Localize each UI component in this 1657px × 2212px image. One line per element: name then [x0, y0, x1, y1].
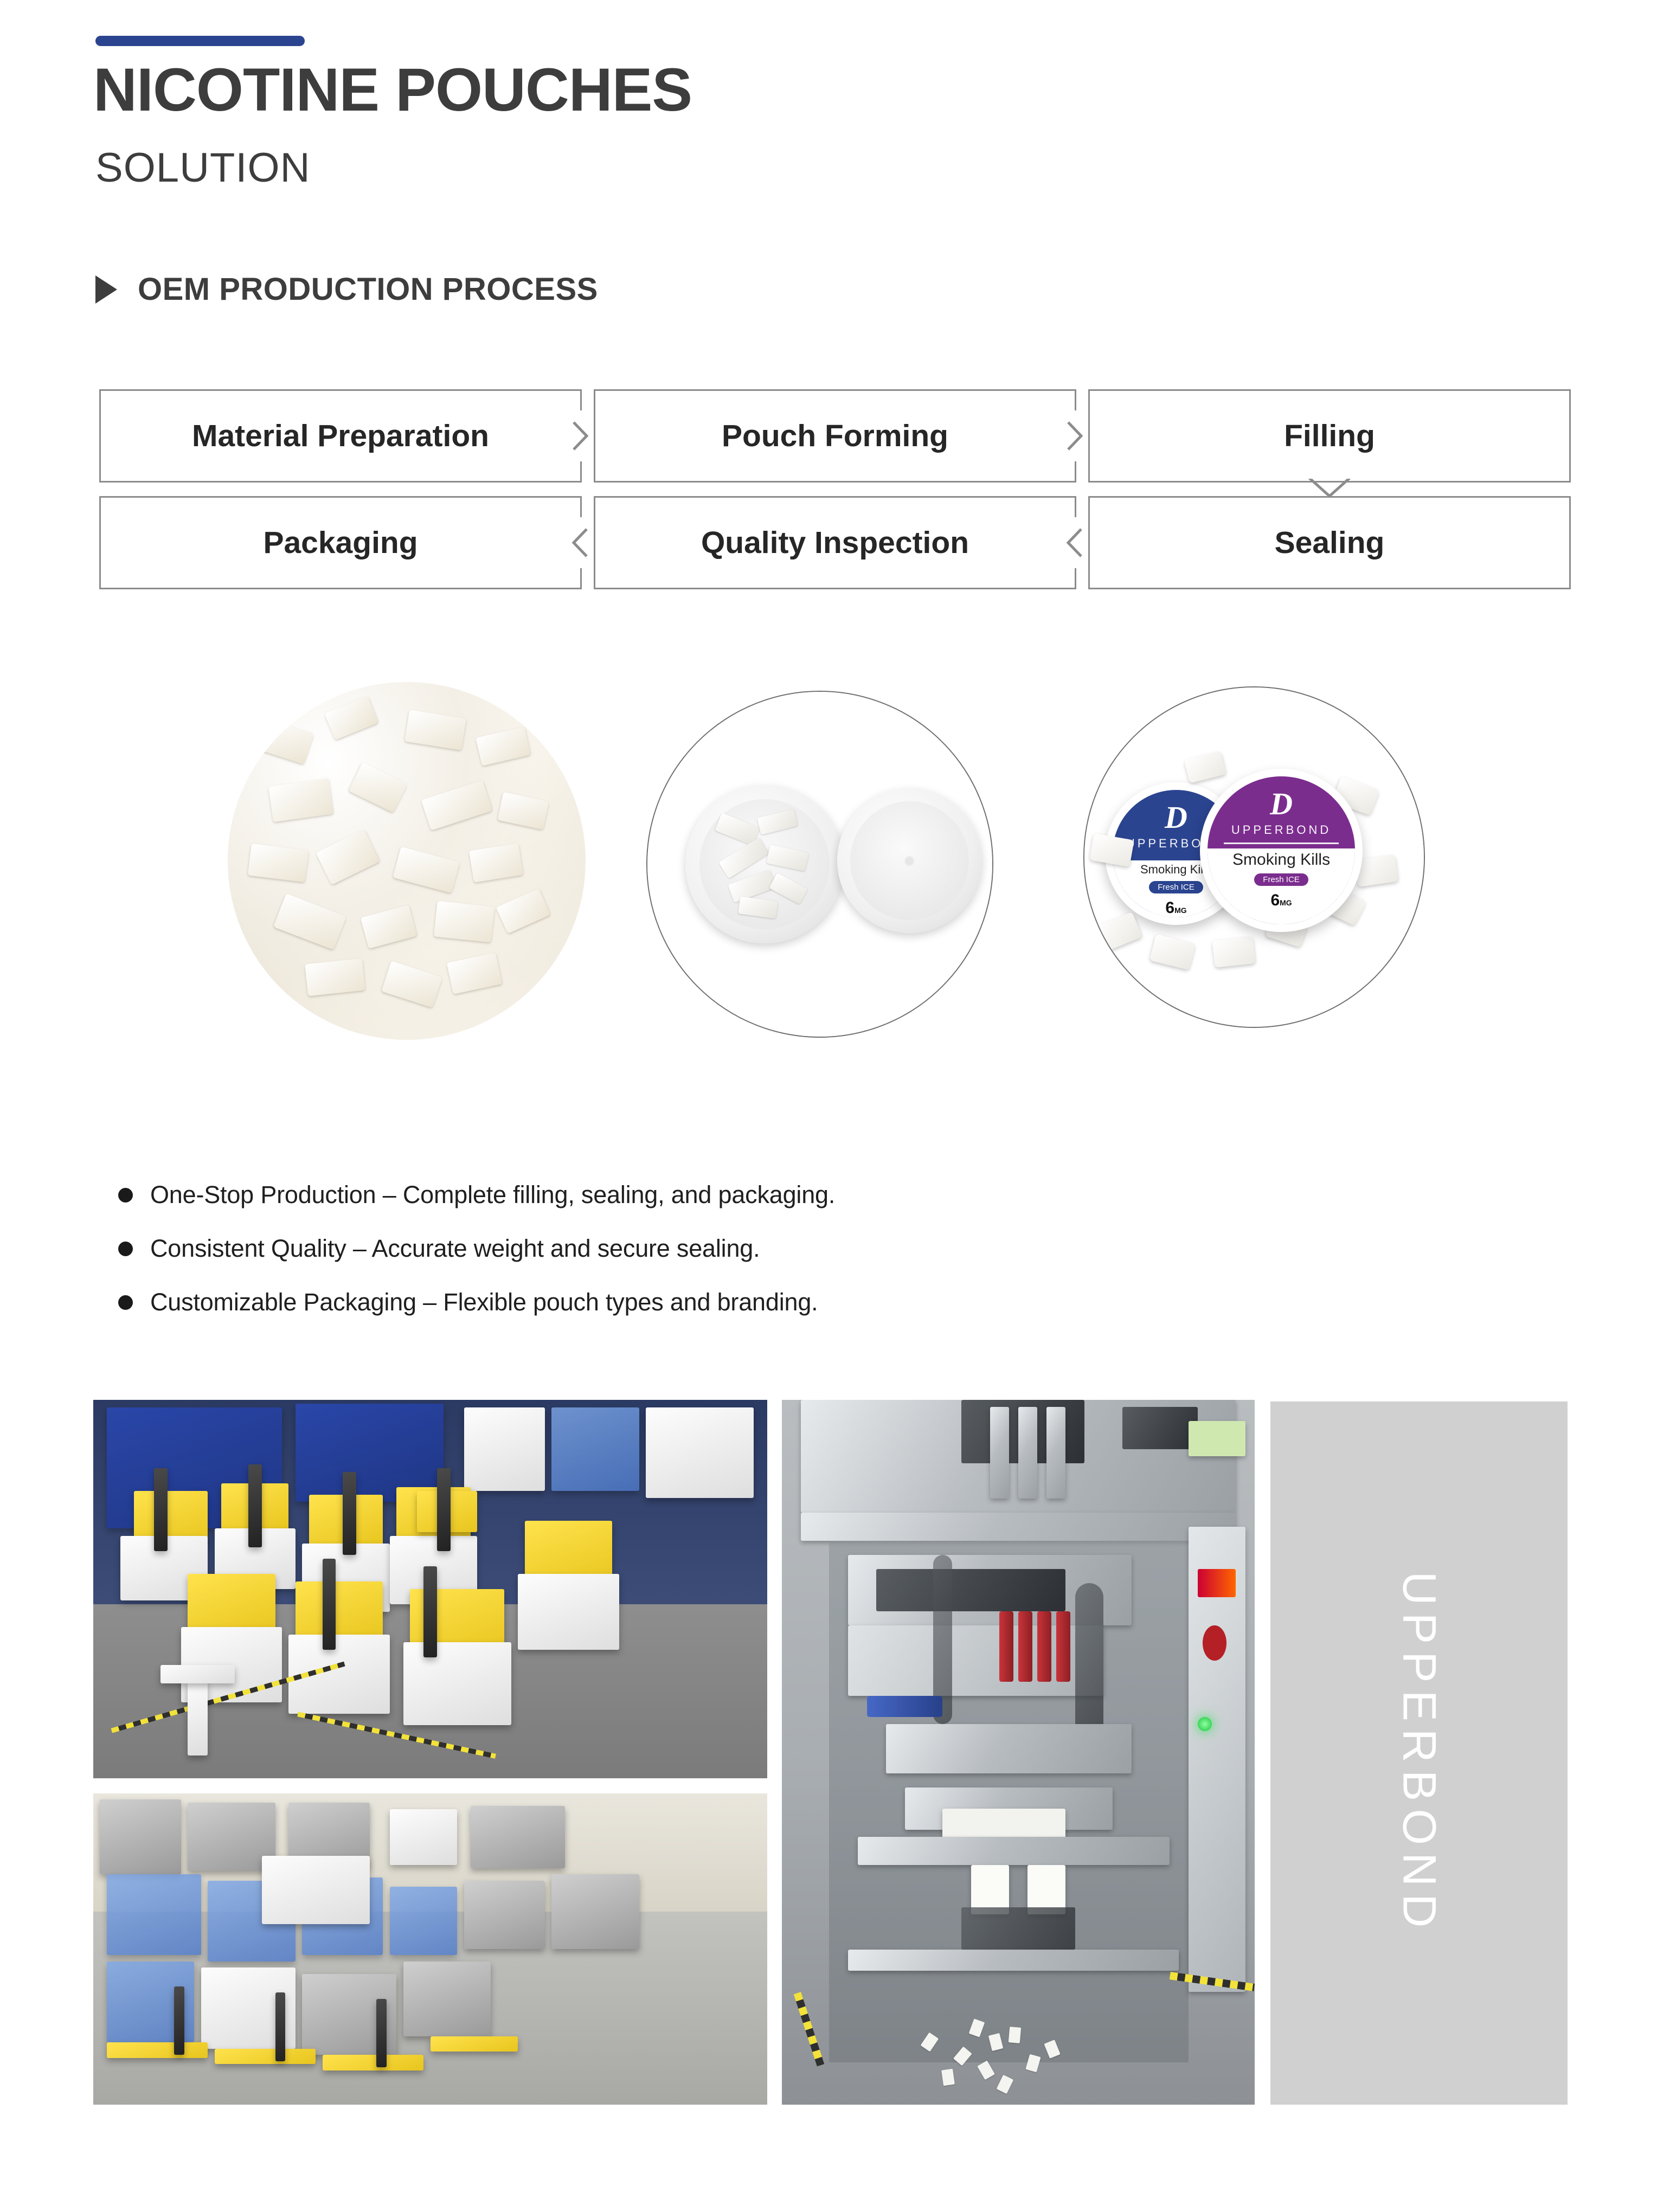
list-item: Customizable Packaging – Flexible pouch … [118, 1288, 835, 1316]
process-step-sealing[interactable]: Sealing [1088, 496, 1571, 589]
bullet-dot-icon [118, 1242, 133, 1256]
list-item: One-Stop Production – Complete filling, … [118, 1181, 835, 1209]
process-flow-row-2: Packaging Quality Inspection [99, 496, 1571, 589]
can-flavor: Fresh ICE [1254, 873, 1308, 886]
process-step-filling[interactable]: Filling [1088, 389, 1571, 483]
can-strength: 6MG [1165, 899, 1186, 917]
product-photo-row: D UPPERBOND Smoking Kills Fresh ICE 6MG … [0, 672, 1657, 1052]
brand-panel-text: UPPERBOND [1392, 1571, 1446, 1935]
brand-name: UPPERBOND [1231, 823, 1331, 837]
pouch-pile-image [228, 682, 586, 1040]
gallery-photo-factory-blue [93, 1793, 767, 2105]
process-step-pouch-forming[interactable]: Pouch Forming [594, 389, 1076, 483]
bullet-text: Customizable Packaging – Flexible pouch … [150, 1288, 818, 1316]
process-step-material-preparation[interactable]: Material Preparation [99, 389, 582, 483]
branded-cans-image: D UPPERBOND Smoking Kills Fresh ICE 6MG … [1084, 687, 1424, 1027]
circle-photo-open-can [646, 691, 993, 1038]
process-step-label: Material Preparation [192, 418, 489, 454]
bullet-dot-icon [118, 1295, 133, 1310]
brand-logo-letter: D [1165, 802, 1187, 833]
circle-photo-branded-cans: D UPPERBOND Smoking Kills Fresh ICE 6MG … [1083, 686, 1425, 1028]
brand-logo-letter: D [1270, 788, 1293, 820]
brand-panel: UPPERBOND [1270, 1401, 1568, 2105]
process-step-packaging[interactable]: Packaging [99, 496, 582, 589]
page-title: NICOTINE POUCHES [93, 60, 692, 120]
bullet-text: One-Stop Production – Complete filling, … [150, 1181, 835, 1209]
process-flow-row-1: Material Preparation Pouch Forming [99, 389, 1571, 483]
process-step-label: Filling [1284, 418, 1375, 454]
process-step-label: Packaging [263, 525, 418, 561]
feature-bullet-list: One-Stop Production – Complete filling, … [118, 1181, 835, 1342]
chevron-left-icon [568, 517, 593, 568]
chevron-right-icon [568, 410, 593, 461]
circle-photo-loose-pouches [228, 682, 586, 1040]
section-heading: OEM PRODUCTION PROCESS [95, 271, 598, 307]
process-step-label: Sealing [1275, 525, 1385, 561]
process-flow-diagram: Material Preparation Pouch Forming [99, 389, 1571, 589]
bullet-text: Consistent Quality – Accurate weight and… [150, 1234, 760, 1263]
can-front: D UPPERBOND Smoking Kills Fresh ICE 6MG [1200, 769, 1363, 931]
triangle-right-icon [95, 275, 117, 304]
can-flavor: Fresh ICE [1149, 881, 1203, 893]
chevron-right-icon [1063, 410, 1088, 461]
process-step-quality-inspection[interactable]: Quality Inspection [594, 496, 1076, 589]
chevron-left-icon [1063, 517, 1088, 568]
open-can-image [647, 692, 992, 1037]
can-warning: Smoking Kills [1232, 851, 1330, 869]
gallery-photo-packing-machine [782, 1400, 1255, 2105]
poster-page: NICOTINE POUCHES SOLUTION OEM PRODUCTION… [0, 0, 1657, 2212]
can-lid [837, 788, 982, 933]
page-subtitle: SOLUTION [95, 147, 311, 189]
accent-bar [95, 36, 305, 46]
can-strength: 6MG [1270, 891, 1292, 910]
photo-gallery: UPPERBOND [0, 0, 1657, 2212]
list-item: Consistent Quality – Accurate weight and… [118, 1234, 835, 1263]
can-base [685, 785, 844, 944]
gallery-photo-factory-yellow [93, 1400, 767, 1778]
bullet-dot-icon [118, 1188, 133, 1203]
section-heading-label: OEM PRODUCTION PROCESS [138, 271, 598, 307]
process-step-label: Quality Inspection [701, 525, 969, 561]
process-step-label: Pouch Forming [722, 418, 948, 454]
